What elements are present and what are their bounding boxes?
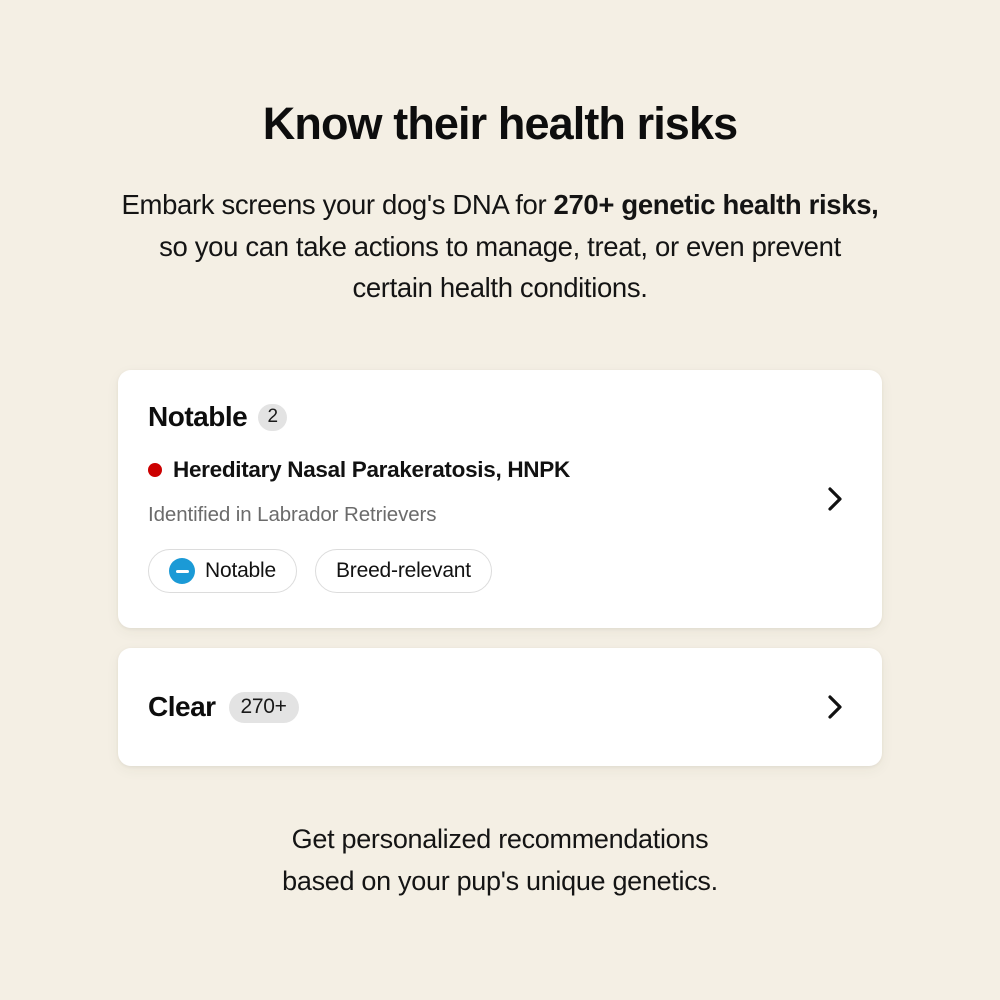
intro-text-part-1: Embark screens your dog's DNA for	[122, 189, 554, 220]
notable-card-header: Notable 2	[148, 370, 852, 433]
health-risks-panel: Know their health risks Embark screens y…	[0, 0, 1000, 1000]
notable-count-badge: 2	[258, 404, 287, 431]
risk-tag-list: Notable Breed-relevant	[148, 549, 852, 593]
notable-card-title: Notable	[148, 401, 247, 433]
risk-name: Hereditary Nasal Parakeratosis, HNPK	[173, 457, 570, 483]
risk-item[interactable]: Hereditary Nasal Parakeratosis, HNPK	[148, 457, 852, 483]
footer-line-2: based on your pup's unique genetics.	[120, 860, 880, 902]
notable-risks-card[interactable]: Notable 2 Hereditary Nasal Parakeratosis…	[118, 370, 882, 628]
minus-circle-icon	[169, 558, 195, 584]
footer-line-1: Get personalized recommendations	[120, 818, 880, 860]
clear-card-header: Clear 270+	[148, 648, 852, 766]
intro-text-emphasis: 270+ genetic health risks,	[554, 189, 879, 220]
chevron-right-icon[interactable]	[824, 488, 846, 510]
tag-notable[interactable]: Notable	[148, 549, 297, 593]
intro-text-part-2: so you can take actions to manage, treat…	[159, 231, 841, 304]
tag-breed-relevant-label: Breed-relevant	[336, 559, 471, 583]
clear-risks-card[interactable]: Clear 270+	[118, 648, 882, 766]
chevron-right-icon[interactable]	[824, 696, 846, 718]
page-title: Know their health risks	[0, 98, 1000, 150]
footer-text: Get personalized recommendations based o…	[120, 818, 880, 902]
notable-card-content: Notable 2 Hereditary Nasal Parakeratosis…	[118, 370, 882, 628]
tag-notable-label: Notable	[205, 559, 276, 583]
tag-breed-relevant[interactable]: Breed-relevant	[315, 549, 492, 593]
intro-paragraph: Embark screens your dog's DNA for 270+ g…	[120, 184, 880, 309]
clear-card-content: Clear 270+	[118, 648, 882, 766]
red-status-dot-icon	[148, 463, 162, 477]
clear-card-title: Clear	[148, 691, 216, 723]
clear-count-badge: 270+	[229, 692, 299, 723]
risk-subtitle: Identified in Labrador Retrievers	[148, 503, 852, 527]
